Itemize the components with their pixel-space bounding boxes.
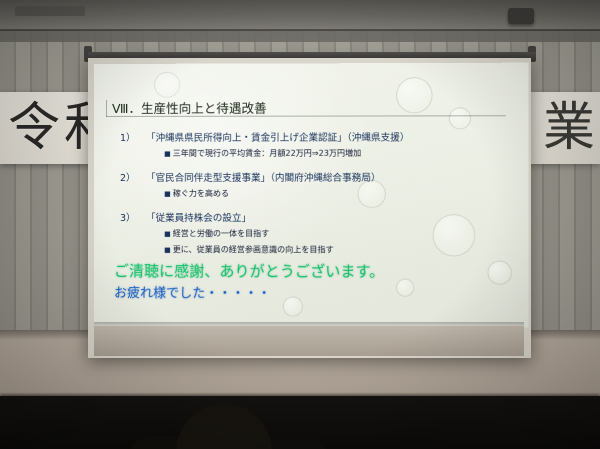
blinds-headrail: [0, 30, 600, 42]
slide-item-3-heading: 「従業員持株会の設立」: [146, 210, 251, 224]
bubble-decoration-icon: [283, 296, 303, 316]
slide-title: Ⅷ．生産性向上と待遇改善: [112, 98, 267, 117]
slide-item-3-sub-2: 更に、従業員の経営参画意識の向上を目指す: [164, 244, 334, 255]
slide-item-2-number: 2）: [120, 170, 136, 184]
closing-line-1: ご清聴に感謝、ありがとうございます。: [114, 260, 384, 282]
bubble-decoration-icon: [396, 279, 414, 297]
screen-lower-band: [94, 326, 524, 356]
ceiling-vent: [15, 6, 85, 16]
photograph: 令和 業 Ⅷ．生産性向上と待遇改善 1） 「沖縄県県民所得向上・賃金引上げ企業認…: [0, 0, 600, 449]
bubble-decoration-icon: [433, 214, 476, 256]
bubble-decoration-icon: [396, 77, 433, 113]
slide-item-2-sub-1: 稼ぐ力を高める: [164, 188, 229, 199]
slide-item-1-number: 1）: [120, 130, 136, 144]
slide-item-3-number: 3）: [120, 210, 136, 224]
slide-item-2-heading: 「官民合同伴走型支援事業」（内閣府沖縄総合事務局）: [146, 170, 381, 184]
banner-right-text: 業: [543, 96, 595, 160]
slide-item-3-sub-1: 経営と労働の一体を目指す: [164, 228, 269, 239]
projected-slide: Ⅷ．生産性向上と待遇改善 1） 「沖縄県県民所得向上・賃金引上げ企業認証」（沖縄…: [94, 63, 528, 328]
ceiling-speaker: [508, 8, 534, 24]
bubble-decoration-icon: [154, 72, 180, 98]
closing-line-2: お疲れ様でした・・・・・: [114, 282, 271, 301]
slide-item-1-sub-1: 三年間で現行の平均賃金：月額22万円⇒23万円増加: [164, 148, 361, 159]
title-tick: [106, 100, 107, 117]
bubble-decoration-icon: [358, 180, 386, 208]
bubble-decoration-icon: [487, 261, 511, 285]
slide-item-1-heading: 「沖縄県県民所得向上・賃金引上げ企業認証」（沖縄県支援）: [146, 130, 409, 144]
bubble-decoration-icon: [449, 107, 471, 129]
ceiling-edge: [0, 29, 600, 31]
